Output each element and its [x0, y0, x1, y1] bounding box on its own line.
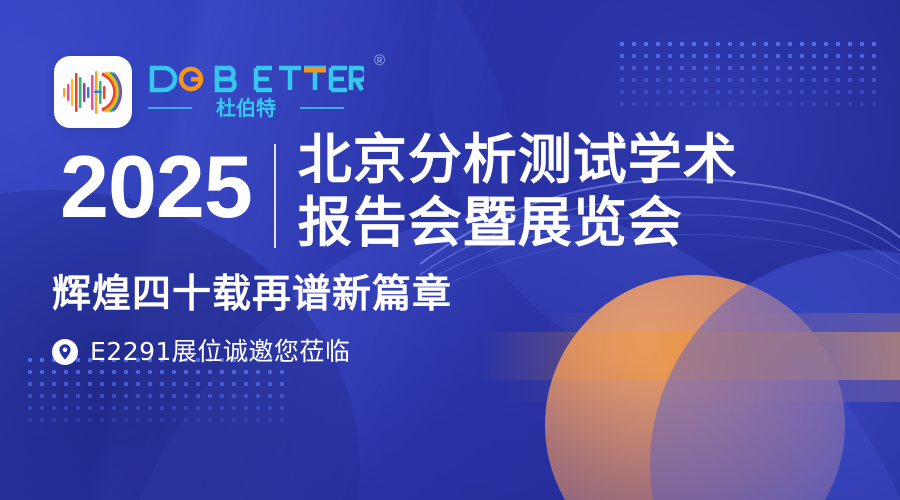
booth-invitation: E2291展位诚邀您莅临 [52, 337, 350, 367]
wordmark-rule-right [300, 107, 344, 109]
dot-grid-bottom-left [28, 358, 288, 442]
waveform-logo-icon [62, 66, 124, 118]
dobetter-wordmark-cn: 杜伯特 [200, 97, 292, 119]
wordmark-cn-text: 杜伯特 [216, 97, 276, 119]
dobetter-wordmark: 杜伯特 [148, 65, 364, 119]
dobetter-logo-mark [54, 56, 132, 128]
conference-banner: 杜伯特 ® 2025 北京分析测试学术 报告会暨展览会 辉煌四十载再谱新篇章 E… [0, 0, 900, 500]
brand-logo-row: 杜伯特 ® [54, 56, 385, 128]
wordmark-rule-left [148, 107, 192, 109]
event-title: 北京分析测试学术 报告会暨展览会 [298, 128, 738, 254]
dobetter-wordmark-en [148, 65, 364, 95]
headline-divider [274, 144, 276, 248]
event-title-line-1: 北京分析测试学术 [298, 128, 738, 191]
headline-block: 2025 北京分析测试学术 报告会暨展览会 [60, 128, 738, 254]
registered-trademark-symbol: ® [374, 52, 385, 69]
event-slogan: 辉煌四十载再谱新篇章 [52, 272, 452, 318]
event-title-line-2: 报告会暨展览会 [298, 191, 738, 254]
location-pin-icon [52, 339, 78, 365]
dot-grid-top-right [620, 42, 880, 132]
booth-text: E2291展位诚邀您莅临 [90, 337, 350, 367]
year-label: 2025 [60, 140, 252, 234]
